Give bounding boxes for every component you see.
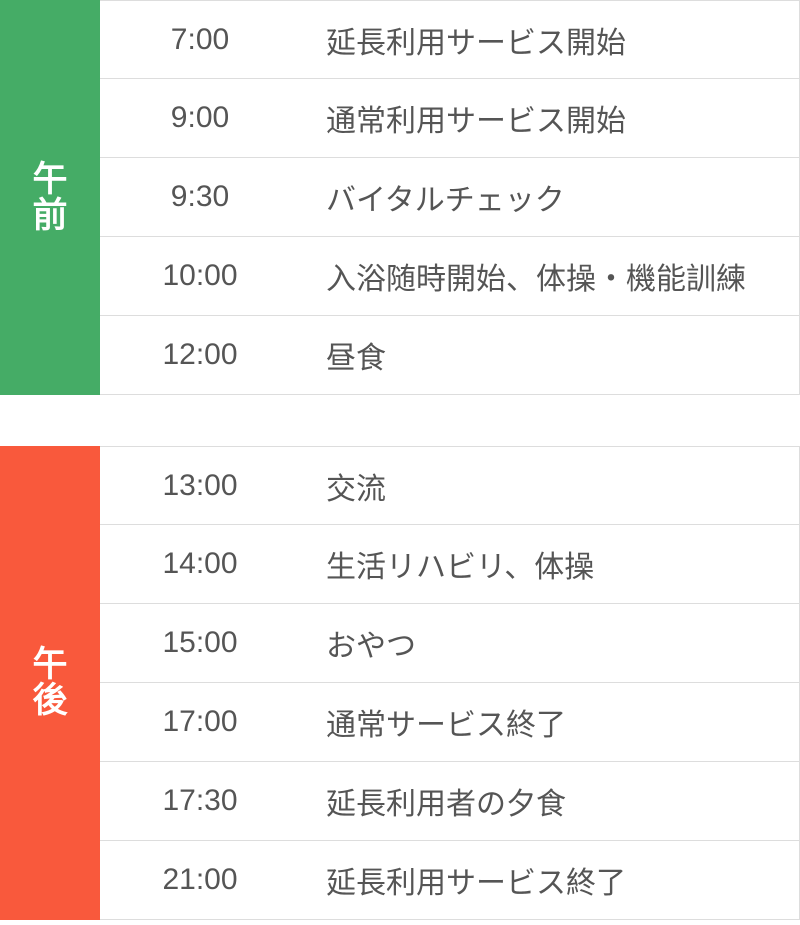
row-time: 12:00 bbox=[100, 338, 322, 372]
row-activity: 延長利用サービス終了 bbox=[322, 858, 799, 902]
row-time: 15:00 bbox=[100, 626, 322, 660]
period-separator-gap bbox=[0, 395, 800, 446]
row-time: 9:30 bbox=[100, 180, 322, 214]
row-time: 13:00 bbox=[100, 469, 322, 503]
table-row: 9:00 通常利用サービス開始 bbox=[100, 79, 799, 158]
table-row: 13:00 交流 bbox=[100, 446, 799, 525]
row-time: 10:00 bbox=[100, 259, 322, 293]
period-label-morning-text: 午 前 bbox=[32, 162, 67, 233]
period-rows-morning: 7:00 延長利用サービス開始 9:00 通常利用サービス開始 9:30 バイタ… bbox=[100, 0, 800, 395]
row-time: 17:30 bbox=[100, 784, 322, 818]
row-time: 21:00 bbox=[100, 863, 322, 897]
table-row: 21:00 延長利用サービス終了 bbox=[100, 841, 799, 920]
row-activity: 生活リハビリ、体操 bbox=[322, 542, 799, 586]
period-label-morning: 午 前 bbox=[0, 0, 100, 395]
table-row: 9:30 バイタルチェック bbox=[100, 158, 799, 237]
table-row: 12:00 昼食 bbox=[100, 316, 799, 395]
row-time: 17:00 bbox=[100, 705, 322, 739]
table-row: 17:00 通常サービス終了 bbox=[100, 683, 799, 762]
period-label-afternoon-text: 午 後 bbox=[32, 647, 67, 718]
row-time: 14:00 bbox=[100, 547, 322, 581]
period-label-afternoon: 午 後 bbox=[0, 446, 100, 920]
row-activity: 延長利用サービス開始 bbox=[322, 18, 799, 62]
period-rows-afternoon: 13:00 交流 14:00 生活リハビリ、体操 15:00 おやつ 17:00… bbox=[100, 446, 800, 920]
row-activity: 通常サービス終了 bbox=[322, 700, 799, 744]
daily-schedule-table: 午 前 7:00 延長利用サービス開始 9:00 通常利用サービス開始 9:30… bbox=[0, 0, 800, 925]
row-activity: 通常利用サービス開始 bbox=[322, 96, 799, 140]
row-time: 9:00 bbox=[100, 101, 322, 135]
row-activity: 昼食 bbox=[322, 333, 799, 377]
period-block-morning: 午 前 7:00 延長利用サービス開始 9:00 通常利用サービス開始 9:30… bbox=[0, 0, 800, 395]
table-row: 15:00 おやつ bbox=[100, 604, 799, 683]
row-activity: 交流 bbox=[322, 464, 799, 508]
table-row: 10:00 入浴随時開始、体操・機能訓練 bbox=[100, 237, 799, 316]
row-activity: バイタルチェック bbox=[322, 175, 799, 219]
row-time: 7:00 bbox=[100, 23, 322, 57]
row-activity: おやつ bbox=[322, 621, 799, 665]
row-activity: 入浴随時開始、体操・機能訓練 bbox=[322, 254, 799, 298]
table-row: 14:00 生活リハビリ、体操 bbox=[100, 525, 799, 604]
table-row: 17:30 延長利用者の夕食 bbox=[100, 762, 799, 841]
table-row: 7:00 延長利用サービス開始 bbox=[100, 0, 799, 79]
row-activity: 延長利用者の夕食 bbox=[322, 779, 799, 823]
period-block-afternoon: 午 後 13:00 交流 14:00 生活リハビリ、体操 15:00 おやつ 1… bbox=[0, 446, 800, 920]
